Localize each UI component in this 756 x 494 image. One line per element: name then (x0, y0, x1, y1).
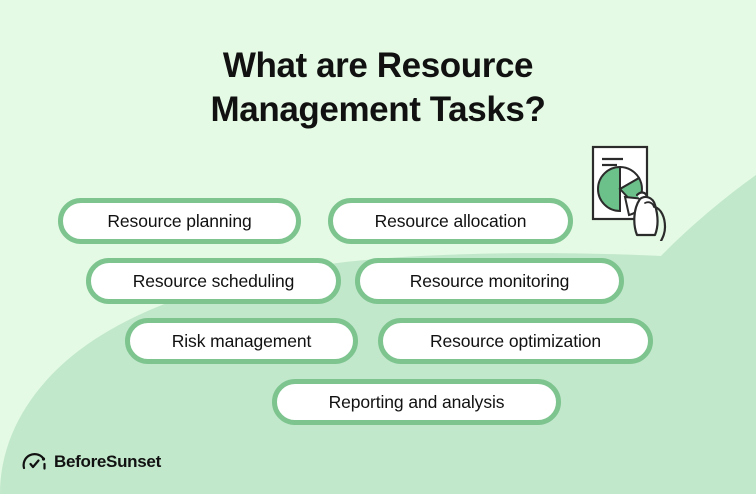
hand-holding-report-icon (583, 137, 687, 241)
task-pill-reporting-and-analysis[interactable]: Reporting and analysis (272, 379, 561, 425)
page-title-line-2: Management Tasks? (0, 88, 756, 132)
infographic-canvas: What are Resource Management Tasks? Reso… (0, 0, 756, 494)
task-pill-resource-scheduling[interactable]: Resource scheduling (86, 258, 341, 304)
brand-logo-text: BeforeSunset (54, 452, 161, 472)
task-pill-resource-allocation[interactable]: Resource allocation (328, 198, 573, 244)
task-pill-resource-monitoring[interactable]: Resource monitoring (355, 258, 624, 304)
task-pill-resource-optimization[interactable]: Resource optimization (378, 318, 653, 364)
page-title: What are Resource Management Tasks? (0, 44, 756, 132)
task-pill-risk-management[interactable]: Risk management (125, 318, 358, 364)
brand-logo[interactable]: BeforeSunset (22, 452, 161, 472)
arc-check-dot-icon (22, 453, 48, 471)
page-title-line-1: What are Resource (0, 44, 756, 88)
task-pill-resource-planning[interactable]: Resource planning (58, 198, 301, 244)
